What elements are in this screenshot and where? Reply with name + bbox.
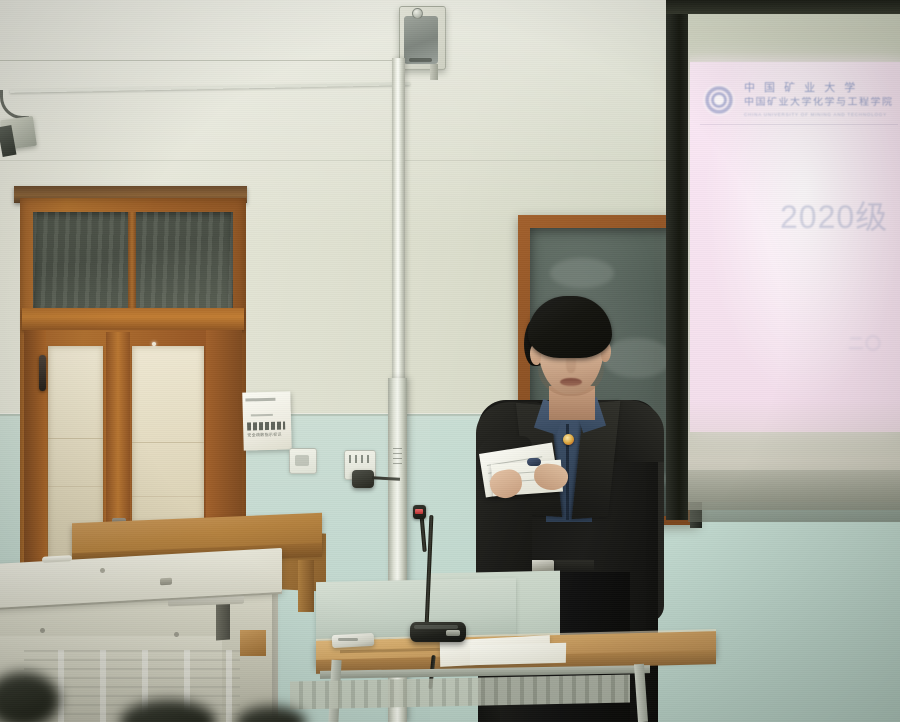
speaker-hair [528,296,612,358]
classroom-photo: 安全疏散指示标识 中 国 矿 业 大 学 中国矿业大学化学与工程学院 CHINA… [0,0,900,722]
slide-main-heading: 2020级 [780,192,900,238]
wood-strip [240,630,266,656]
desk-paper-second [470,643,566,666]
speaker-grille [404,16,438,64]
slide-header-line2: 中国矿业大学化学与工程学院 [744,97,896,109]
remote-buttons [338,638,358,641]
cabinet-screw-top [100,568,105,573]
wall-sign: 安全疏散指示标识 [242,391,292,450]
cabinet-screw-right [174,632,179,637]
screen-left-border [666,0,688,520]
university-emblem-icon [703,84,735,116]
power-plug[interactable] [352,470,374,488]
slide-header-english: CHINA UNIVERSITY OF MINING AND TECHNOLOG… [744,112,896,117]
cabinet-hinge [160,578,172,586]
projected-slide [690,62,900,432]
wall-outlet-left-socket [295,455,309,466]
cabinet-screw-left [40,628,45,633]
wall-sign-text: 安全疏散指示标识 [247,432,282,439]
screen-top-border [666,0,900,14]
microphone-base-highlight [414,625,458,629]
microphone-button[interactable] [446,630,460,636]
slide-sub-heading: 二〇 [848,330,900,354]
door-rail [22,308,244,330]
speaker-knob [412,8,423,19]
transom-mullion [128,212,136,320]
conduit-screws [393,448,402,466]
wooden-table-leg [298,560,314,612]
wall-outlet-right-socket [349,455,369,463]
slide-divider [700,124,898,125]
door-nail [152,342,156,346]
lapel-pin-icon [563,434,574,445]
screen-bottom-shadow [688,470,900,522]
mouth [560,378,582,386]
slide-header-line1: 中 国 矿 业 大 学 [744,82,896,95]
speaker-vent [409,58,432,62]
microphone-indicator [415,509,423,514]
door-handle[interactable] [39,355,46,391]
speaker-bracket [430,64,438,80]
ceiling-seam [0,60,420,61]
cabinet-gap [216,600,230,641]
